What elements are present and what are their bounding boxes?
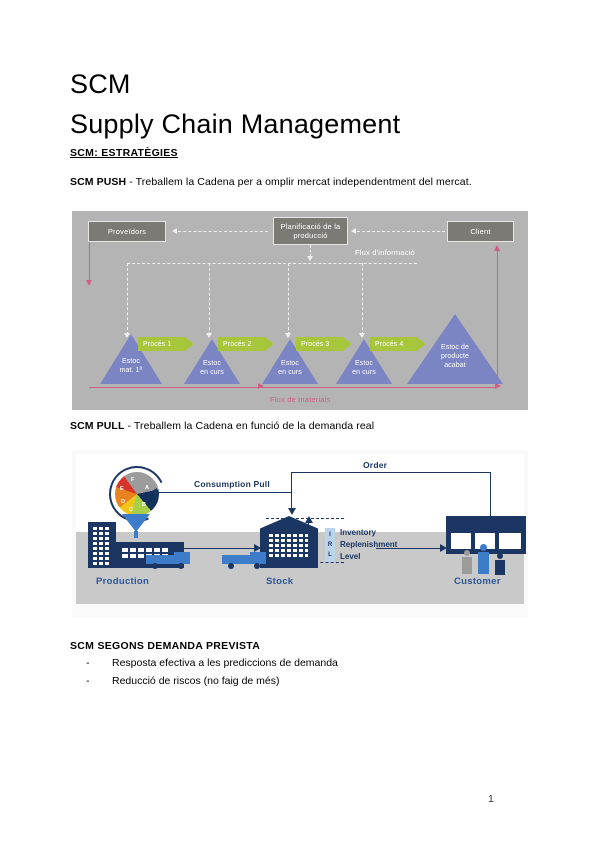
inventory-range-arrowhead-down	[305, 558, 313, 565]
material-flow-bottom	[89, 387, 497, 388]
bullet-list: - Resposta efectiva a les prediccions de…	[86, 654, 338, 690]
funnel-stem	[134, 531, 138, 538]
page-title-scm: SCM	[70, 70, 131, 100]
info-flow-arrowhead-down	[206, 333, 212, 338]
truck-wheel	[228, 563, 234, 569]
stage-label-customer: Customer	[454, 576, 501, 587]
push-supply-chain-diagram: Proveïdors Planificació de la producció …	[72, 211, 528, 410]
irl-badge: I R L	[325, 528, 335, 562]
irl-letter-l: L	[328, 552, 332, 558]
process-chevron-2: Procés 2	[218, 337, 274, 351]
pie-slice-label-e: E	[120, 486, 124, 492]
stock-label-line3: acabat	[407, 362, 503, 371]
info-flow-arrowhead-down	[285, 333, 291, 338]
stock-label-line2: mat. 1ª	[100, 367, 162, 376]
person-body	[495, 560, 505, 575]
label-flux-informacio: Flux d'informació	[355, 248, 415, 257]
truck-stock	[222, 552, 268, 568]
building-windows	[93, 527, 109, 565]
info-flow-arrowhead-left	[351, 228, 356, 234]
info-flow-drop-process-2	[209, 263, 210, 335]
flow-arrowhead-right	[440, 544, 447, 552]
stage-label-production: Production	[96, 576, 149, 587]
bullet-marker: -	[86, 672, 112, 690]
truck-production	[146, 552, 192, 568]
truck-wheel	[178, 563, 184, 569]
order-arrowhead-down	[288, 508, 296, 515]
irl-description: Inventory Replenishment Level	[340, 527, 397, 563]
stock-label-line1: Estoc	[184, 360, 240, 369]
inventory-min-level-dashed	[284, 562, 344, 563]
inventory-range-line	[308, 522, 309, 560]
info-flow-arrowhead-left	[172, 228, 177, 234]
funnel-icon	[122, 514, 150, 532]
production-tower-building	[88, 522, 116, 568]
irl-letter-i: I	[329, 532, 331, 538]
customer-person-grey	[461, 550, 473, 574]
paragraph-scm-push: SCM PUSH - Treballem la Cadena per a omp…	[70, 176, 472, 188]
stock-label-line1: Estoc	[100, 358, 162, 367]
flow-production-to-stock	[184, 548, 256, 549]
flow-stock-to-customer	[376, 548, 442, 549]
label-scm-pull: SCM PULL	[70, 420, 124, 432]
text-scm-pull-body: - Treballem la Cadena en funció de la de…	[124, 420, 374, 432]
order-arrow-line	[291, 472, 491, 473]
customer-person-navy	[494, 553, 506, 575]
truck-wheel	[254, 563, 260, 569]
text-scm-push-body: - Treballem la Cadena per a omplir merca…	[126, 176, 472, 188]
info-flow-drop-process-3	[288, 263, 289, 335]
stock-label-line2: en curs	[184, 369, 240, 378]
info-flow-drop-process-1	[127, 263, 128, 335]
order-drop-to-stock	[291, 472, 292, 510]
store-window	[451, 533, 471, 549]
person-head	[480, 544, 487, 551]
person-body	[462, 557, 472, 574]
consumption-pull-arrow-line	[156, 492, 291, 493]
truck-trailer	[146, 555, 174, 564]
stock-label-line2: en curs	[336, 369, 392, 378]
info-flow-arrowhead-down	[307, 256, 313, 261]
paragraph-scm-pull: SCM PULL - Treballem la Cadena en funció…	[70, 420, 374, 432]
document-page: SCM Supply Chain Management SCM: ESTRATÈ…	[0, 0, 600, 848]
pull-diagram-canvas: A B C D E F	[76, 454, 524, 604]
stock-label-line2: en curs	[262, 369, 318, 378]
stock-label-line1: Estoc	[336, 360, 392, 369]
stock-label-line2: producte	[407, 353, 503, 362]
silo-windows	[269, 534, 309, 557]
label-order: Order	[363, 460, 387, 470]
bullet-marker: -	[86, 654, 112, 672]
pie-slice-label-f: F	[131, 477, 134, 483]
pie-slice-label-c: C	[129, 507, 133, 513]
customer-store-roof	[446, 516, 526, 528]
label-consumption-pull: Consumption Pull	[194, 479, 270, 489]
info-flow-drop-process-4	[362, 263, 363, 335]
irl-letter-r: R	[328, 542, 332, 548]
irl-text-line-1: Inventory	[340, 527, 397, 539]
material-flow-arrowhead-down	[86, 280, 92, 286]
list-item: - Resposta efectiva a les prediccions de…	[86, 654, 338, 672]
consumption-pull-arrowhead	[150, 488, 157, 496]
pie-slice-label-b: B	[142, 502, 146, 508]
heading-scm-segons-demanda-prevista: SCM SEGONS DEMANDA PREVISTA	[70, 640, 260, 652]
process-chevron-4: Procés 4	[370, 337, 426, 351]
inventory-range-arrowhead-up	[305, 516, 313, 523]
irl-text-line-2: Replenishment	[340, 539, 397, 551]
diagram-box-proveidors: Proveïdors	[88, 221, 166, 242]
store-window	[499, 533, 521, 549]
info-flow-bus	[127, 263, 417, 264]
person-head	[464, 550, 470, 556]
truck-trailer	[222, 555, 250, 564]
page-number: 1	[488, 793, 494, 805]
process-chevron-3: Procés 3	[296, 337, 352, 351]
info-flow-client-to-planificacio	[357, 231, 445, 232]
info-flow-planificacio-to-proveidors	[178, 231, 268, 232]
process-chevron-1: Procés 1	[138, 337, 194, 351]
pie-slice-label-d: D	[121, 499, 125, 505]
truck-wheel	[152, 563, 158, 569]
list-item-label: Reducció de riscos (no faig de més)	[112, 672, 280, 690]
irl-text-line-3: Level	[340, 551, 397, 563]
pie-slice-label-a: A	[145, 485, 149, 491]
flow-arrowhead-right	[254, 544, 261, 552]
customer-person-blue	[477, 544, 490, 574]
label-scm-push: SCM PUSH	[70, 176, 126, 188]
diagram-box-client: Client	[447, 221, 514, 242]
page-title-supply-chain-management: Supply Chain Management	[70, 110, 400, 140]
diagram-box-planificacio-produccio: Planificació de la producció	[273, 217, 348, 245]
person-body	[478, 552, 489, 574]
list-item-label: Resposta efectiva a les prediccions de d…	[112, 654, 338, 672]
list-item: - Reducció de riscos (no faig de més)	[86, 672, 338, 690]
section-heading-estrategies: SCM: ESTRATÈGIES	[70, 147, 178, 159]
material-flow-arrowhead-up	[494, 245, 500, 251]
stage-label-stock: Stock	[266, 576, 293, 587]
person-head	[497, 553, 503, 559]
label-flux-materials: Flux de materials	[270, 395, 331, 404]
order-riser-customer	[490, 472, 491, 518]
material-flow-left-vertical	[89, 242, 90, 282]
stock-triangle-producte-acabat: Estoc de producte acabat	[407, 314, 503, 384]
info-flow-arrowhead-down	[359, 333, 365, 338]
stock-label-line1: Estoc	[262, 360, 318, 369]
pull-supply-chain-diagram: A B C D E F	[72, 450, 528, 618]
